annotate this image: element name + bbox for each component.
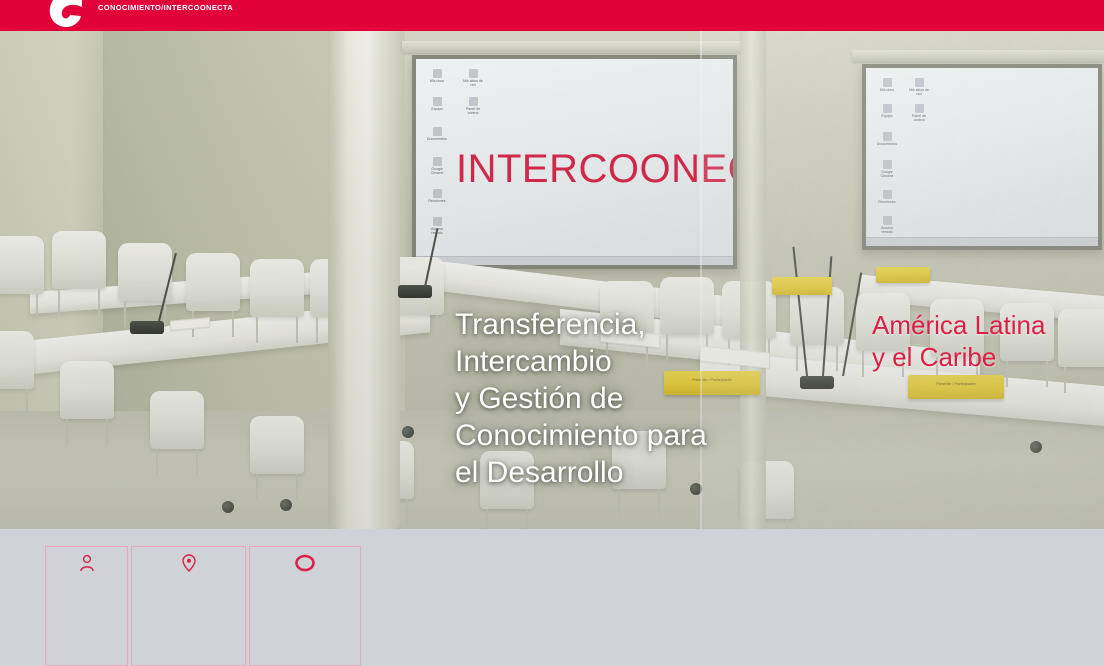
hero-headline-line: y Gestión de [455,380,755,417]
person-icon [46,554,127,577]
feature-card-row [45,546,361,666]
hero-region-line: América Latina [872,309,1045,341]
hero-headline-line: el Desarrollo [455,454,755,491]
brand-lockup[interactable]: CONOCIMIENTO/INTERCOONECTA [44,0,233,30]
feature-card[interactable] [45,546,128,666]
top-header-bar: CONOCIMIENTO/INTERCOONECTA [0,0,1104,31]
feature-card[interactable] [131,546,246,666]
hero-headline-line: Conocimiento para [455,417,755,454]
brand-text: CONOCIMIENTO/INTERCOONECTA [98,3,233,30]
hero-headline-line: Transferencia, [455,306,755,343]
pin-icon [132,554,245,577]
hero-headline-line: Intercambio [455,343,755,380]
hero-headline: Transferencia, Intercambio y Gestión de … [455,306,755,491]
below-hero-strip [0,529,1104,558]
aecid-c-logo-icon [44,0,90,30]
circle-icon [250,554,360,577]
hero-region-line: y el Caribe [872,341,1045,373]
feature-card[interactable] [249,546,361,666]
hero-banner: Mis docs Mis sitios de red Equipo Panel … [0,31,1104,529]
hero-region-label: América Latina y el Caribe [872,309,1045,373]
